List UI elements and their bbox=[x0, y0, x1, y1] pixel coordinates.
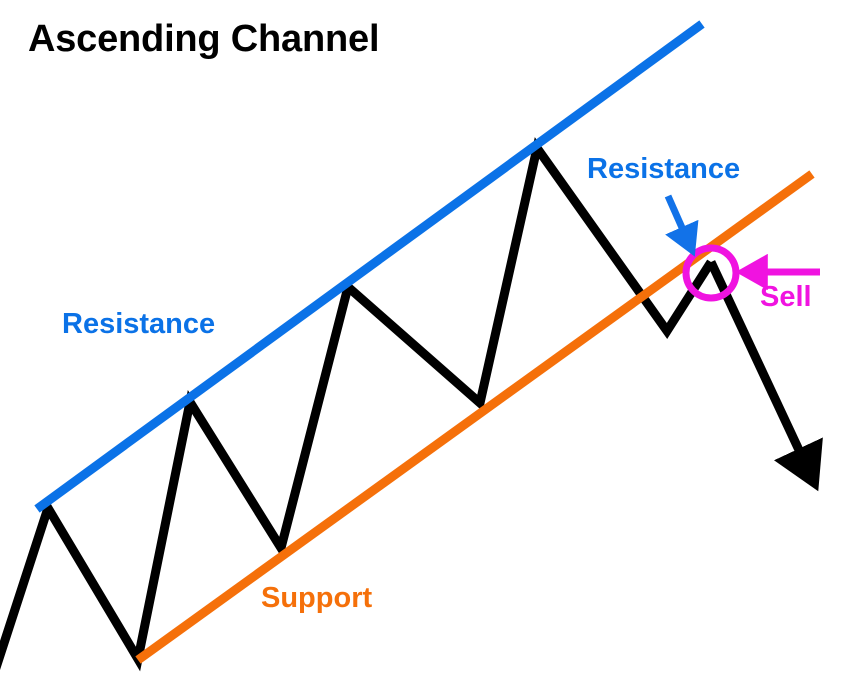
support-label: Support bbox=[261, 584, 372, 613]
chart-plot-area bbox=[0, 0, 850, 680]
resistance-label-left: Resistance bbox=[62, 310, 215, 339]
resistance-pointer-arrow-icon bbox=[668, 196, 686, 236]
page-title: Ascending Channel bbox=[28, 20, 379, 58]
sell-label: Sell bbox=[760, 283, 812, 312]
resistance-label-right: Resistance bbox=[587, 155, 740, 184]
breakout-circle-marker bbox=[686, 248, 736, 298]
resistance-trendline bbox=[37, 24, 702, 509]
ascending-channel-diagram: Ascending Channel Resistance Resistance … bbox=[0, 0, 850, 680]
